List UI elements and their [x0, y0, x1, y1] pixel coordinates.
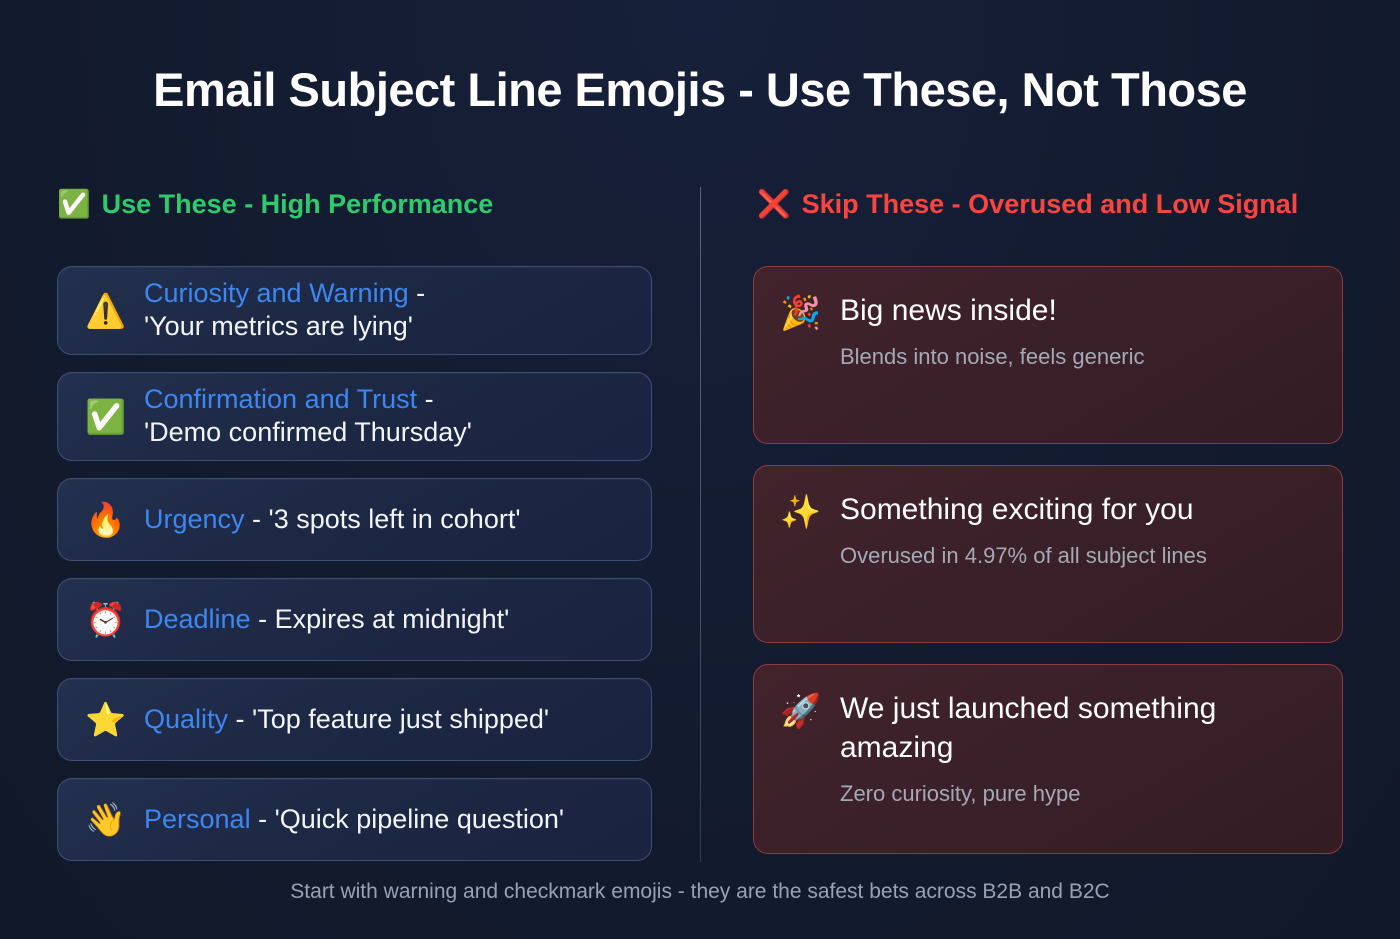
good-card[interactable]: 👋 Personal - 'Quick pipeline question'	[57, 778, 652, 861]
good-card[interactable]: 🔥 Urgency - '3 spots left in cohort'	[57, 478, 652, 561]
footer-tip: Start with warning and checkmark emojis …	[0, 880, 1400, 904]
good-card-separator: -	[228, 704, 252, 734]
good-card-text: Personal - 'Quick pipeline question'	[144, 803, 564, 836]
good-column: ✅ Use These - High Performance ⚠️ Curios…	[57, 182, 652, 861]
bad-column: ❌ Skip These - Overused and Low Signal 🎉…	[753, 182, 1343, 854]
good-card-text: Curiosity and Warning - 'Your metrics ar…	[144, 277, 425, 344]
white-check-mark-icon: ✅	[85, 400, 123, 433]
good-card-text: Quality - 'Top feature just shipped'	[144, 703, 549, 736]
good-column-header: ✅ Use These - High Performance	[57, 182, 652, 226]
warning-icon: ⚠️	[85, 294, 123, 327]
good-card-separator: -	[245, 504, 269, 534]
bad-card-body: Big news inside! Blends into noise, feel…	[840, 291, 1318, 419]
waving-hand-icon: 👋	[85, 803, 123, 836]
good-card-label: Quality	[144, 704, 228, 734]
bad-card-reason: Zero curiosity, pure hype	[840, 780, 1318, 809]
bad-card-subject: Something exciting for you	[840, 490, 1318, 529]
page-title: Email Subject Line Emojis - Use These, N…	[0, 62, 1400, 117]
bad-card[interactable]: ✨ Something exciting for you Overused in…	[753, 465, 1343, 643]
bad-card-subject: We just launched something amazing	[840, 689, 1318, 767]
good-card-label: Urgency	[144, 504, 245, 534]
bad-card-body: Something exciting for you Overused in 4…	[840, 490, 1318, 618]
infographic-canvas: Email Subject Line Emojis - Use These, N…	[0, 0, 1400, 939]
good-card-separator: -	[251, 804, 275, 834]
good-card[interactable]: ⚠️ Curiosity and Warning - 'Your metrics…	[57, 266, 652, 355]
good-column-heading-label: Use These - High Performance	[102, 189, 494, 220]
good-card[interactable]: ✅ Confirmation and Trust - 'Demo confirm…	[57, 372, 652, 461]
good-card-separator: -	[417, 384, 434, 414]
good-card[interactable]: ⏰ Deadline - Expires at midnight'	[57, 578, 652, 661]
good-card-separator: -	[409, 278, 426, 308]
rocket-icon: 🚀	[780, 689, 822, 829]
cross-mark-icon: ❌	[757, 191, 791, 218]
good-card-example: 'Demo confirmed Thursday'	[144, 417, 472, 447]
good-card-example: 'Your metrics are lying'	[144, 311, 413, 341]
column-divider	[700, 187, 701, 862]
good-card-list: ⚠️ Curiosity and Warning - 'Your metrics…	[57, 266, 652, 861]
bad-card[interactable]: 🚀 We just launched something amazing Zer…	[753, 664, 1343, 854]
fire-icon: 🔥	[85, 503, 123, 536]
bad-card-reason: Overused in 4.97% of all subject lines	[840, 542, 1318, 571]
bad-card[interactable]: 🎉 Big news inside! Blends into noise, fe…	[753, 266, 1343, 444]
bad-column-header: ❌ Skip These - Overused and Low Signal	[757, 182, 1343, 226]
bad-card-list: 🎉 Big news inside! Blends into noise, fe…	[753, 266, 1343, 854]
star-icon: ⭐	[85, 703, 123, 736]
party-popper-icon: 🎉	[780, 291, 822, 419]
alarm-clock-icon: ⏰	[85, 603, 123, 636]
good-card-example: Expires at midnight'	[275, 604, 510, 634]
good-card-label: Confirmation and Trust	[144, 384, 417, 414]
bad-card-subject: Big news inside!	[840, 291, 1318, 330]
sparkles-icon: ✨	[780, 490, 822, 618]
good-card-example: 'Top feature just shipped'	[252, 704, 549, 734]
bad-card-reason: Blends into noise, feels generic	[840, 343, 1318, 372]
good-card-label: Personal	[144, 804, 251, 834]
good-card-text: Deadline - Expires at midnight'	[144, 603, 509, 636]
good-card-separator: -	[251, 604, 275, 634]
good-card-text: Urgency - '3 spots left in cohort'	[144, 503, 521, 536]
good-card[interactable]: ⭐ Quality - 'Top feature just shipped'	[57, 678, 652, 761]
good-card-example: 'Quick pipeline question'	[275, 804, 565, 834]
good-card-example: '3 spots left in cohort'	[269, 504, 521, 534]
bad-column-heading-label: Skip These - Overused and Low Signal	[802, 189, 1299, 220]
white-check-mark-icon: ✅	[57, 191, 91, 218]
good-card-text: Confirmation and Trust - 'Demo confirmed…	[144, 383, 472, 450]
good-card-label: Deadline	[144, 604, 251, 634]
good-card-label: Curiosity and Warning	[144, 278, 409, 308]
bad-card-body: We just launched something amazing Zero …	[840, 689, 1318, 829]
